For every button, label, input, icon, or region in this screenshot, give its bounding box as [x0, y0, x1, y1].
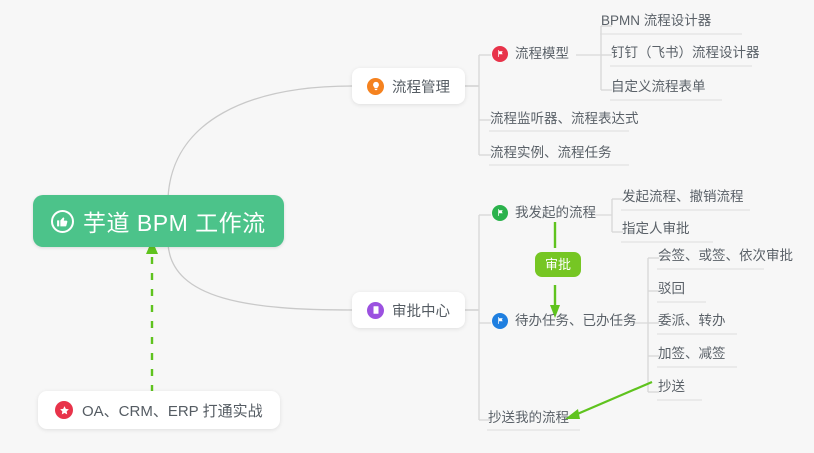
root-label: 芋道 BPM 工作流	[83, 204, 266, 238]
leaf-cc-to-me-processes[interactable]: 抄送我的流程	[488, 409, 569, 431]
flag-icon	[492, 205, 508, 221]
mindmap-canvas: 芋道 BPM 工作流 流程管理 流程模型 BPMN 流程设计器 钉钉（飞书）流程…	[0, 0, 814, 453]
node-label: 流程模型	[515, 45, 569, 62]
leaf-reject[interactable]: 驳回	[658, 280, 685, 302]
leaf-process-instance[interactable]: 流程实例、流程任务	[490, 144, 612, 166]
node-label: 待办任务、已办任务	[515, 312, 637, 329]
leaf-countersign[interactable]: 会签、或签、依次审批	[658, 247, 793, 269]
approval-chip: 审批	[535, 252, 581, 277]
leaf-cc[interactable]: 抄送	[658, 378, 685, 400]
leaf-process-listener[interactable]: 流程监听器、流程表达式	[490, 110, 639, 132]
node-todo-done-tasks[interactable]: 待办任务、已办任务	[492, 312, 637, 334]
note-label: OA、CRM、ERP 打通实战	[82, 400, 263, 421]
node-my-started-processes[interactable]: 我发起的流程	[492, 204, 596, 226]
thumbs-up-icon	[51, 210, 74, 233]
root-node[interactable]: 芋道 BPM 工作流	[33, 195, 284, 247]
leaf-add-remove-sign[interactable]: 加签、减签	[658, 345, 726, 367]
leaf-bpmn-designer[interactable]: BPMN 流程设计器	[601, 12, 711, 34]
leaf-assignee-approval[interactable]: 指定人审批	[622, 220, 690, 242]
lightbulb-icon	[367, 78, 384, 95]
flag-icon	[492, 46, 508, 62]
leaf-delegate-transfer[interactable]: 委派、转办	[658, 312, 726, 334]
note-card-integration[interactable]: OA、CRM、ERP 打通实战	[38, 391, 280, 429]
leaf-custom-form[interactable]: 自定义流程表单	[611, 78, 706, 100]
star-icon	[55, 401, 73, 419]
branch-approval-center[interactable]: 审批中心	[352, 292, 465, 328]
node-label: 我发起的流程	[515, 204, 596, 221]
leaf-dingtalk-designer[interactable]: 钉钉（飞书）流程设计器	[611, 44, 760, 66]
node-process-model[interactable]: 流程模型	[492, 45, 569, 67]
branch-label: 审批中心	[392, 300, 450, 321]
clipboard-icon	[367, 302, 384, 319]
leaf-start-cancel-process[interactable]: 发起流程、撤销流程	[622, 188, 744, 210]
branch-label: 流程管理	[392, 76, 450, 97]
branch-process-management[interactable]: 流程管理	[352, 68, 465, 104]
flag-icon	[492, 313, 508, 329]
